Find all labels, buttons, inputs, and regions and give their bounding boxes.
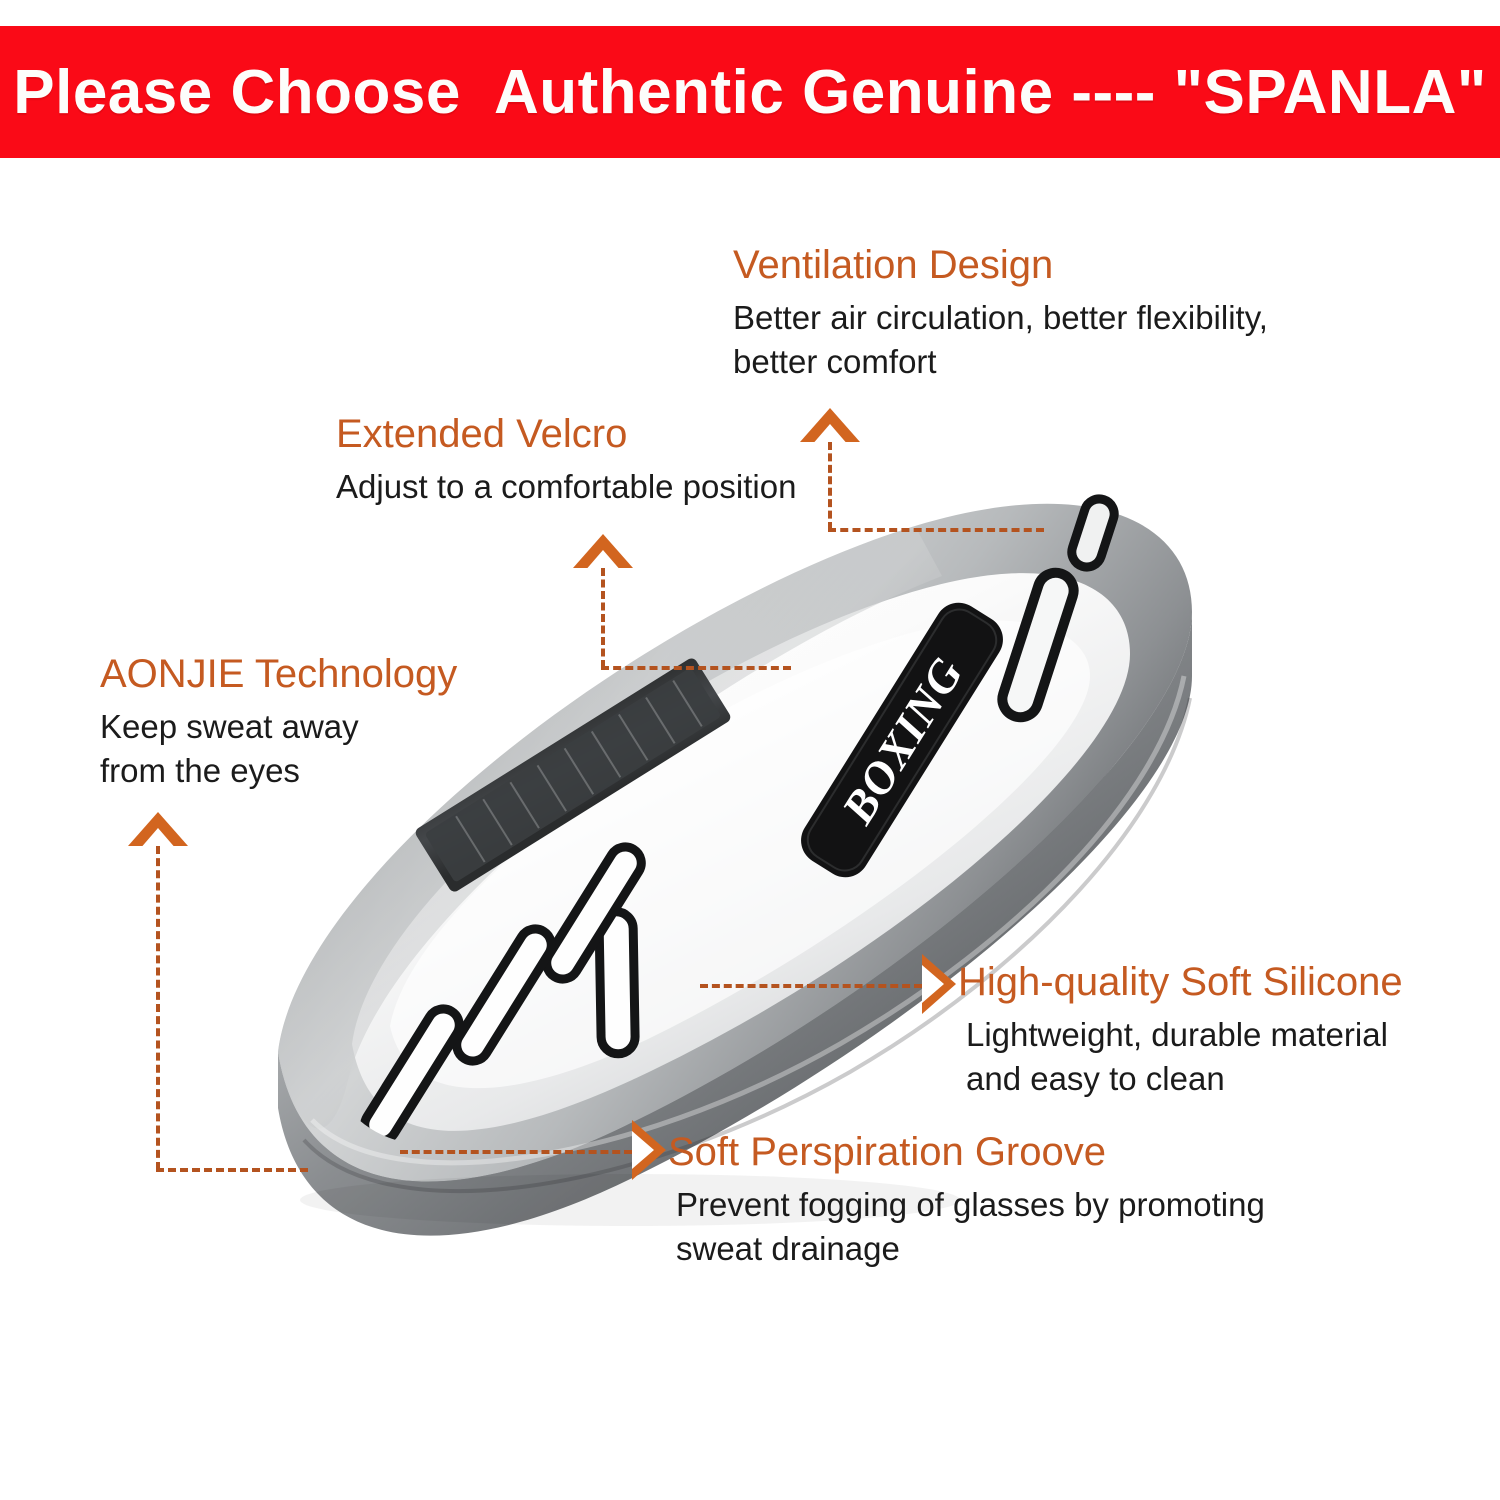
- callout-silicone: High-quality Soft Silicone Lightweight, …: [958, 960, 1403, 1101]
- callout-ventilation: Ventilation Design Better air circulatio…: [733, 243, 1268, 384]
- arrow-up-icon-velcro: [573, 534, 633, 568]
- connector-aonjie-vertical: [156, 846, 160, 1170]
- arrow-up-icon-ventilation: [800, 408, 860, 442]
- arrow-up-icon-aonjie: [128, 812, 188, 846]
- connector-groove-horizontal: [400, 1150, 632, 1154]
- connector-velcro-vertical: [601, 568, 605, 668]
- callout-ventilation-heading: Ventilation Design: [733, 243, 1268, 288]
- callout-ventilation-body: Better air circulation, better flexibili…: [733, 296, 1268, 384]
- connector-ventilation-horizontal: [828, 528, 1044, 532]
- callout-velcro-heading: Extended Velcro: [336, 412, 796, 457]
- connector-velcro-horizontal: [601, 666, 791, 670]
- callout-silicone-body: Lightweight, durable material and easy t…: [966, 1013, 1403, 1101]
- callout-aonjie: AONJIE Technology Keep sweat away from t…: [100, 652, 457, 793]
- connector-silicone-horizontal: [700, 984, 922, 988]
- infographic-page: Please Choose Authentic Genuine ---- "SP…: [0, 0, 1500, 1500]
- callout-velcro-body: Adjust to a comfortable position: [336, 465, 796, 509]
- connector-ventilation-vertical: [828, 442, 832, 530]
- connector-aonjie-horizontal: [156, 1168, 308, 1172]
- callout-silicone-heading: High-quality Soft Silicone: [958, 960, 1403, 1005]
- arrow-right-icon-groove: [632, 1120, 666, 1180]
- arrow-right-icon-silicone: [922, 954, 956, 1014]
- promo-banner: Please Choose Authentic Genuine ---- "SP…: [0, 26, 1500, 158]
- callout-groove: Soft Perspiration Groove Prevent fogging…: [668, 1130, 1265, 1271]
- promo-banner-text: Please Choose Authentic Genuine ---- "SP…: [13, 57, 1487, 128]
- callout-groove-heading: Soft Perspiration Groove: [668, 1130, 1265, 1175]
- callout-aonjie-heading: AONJIE Technology: [100, 652, 457, 697]
- callout-velcro: Extended Velcro Adjust to a comfortable …: [336, 412, 796, 509]
- callout-aonjie-body: Keep sweat away from the eyes: [100, 705, 457, 793]
- callout-groove-body: Prevent fogging of glasses by promoting …: [676, 1183, 1265, 1271]
